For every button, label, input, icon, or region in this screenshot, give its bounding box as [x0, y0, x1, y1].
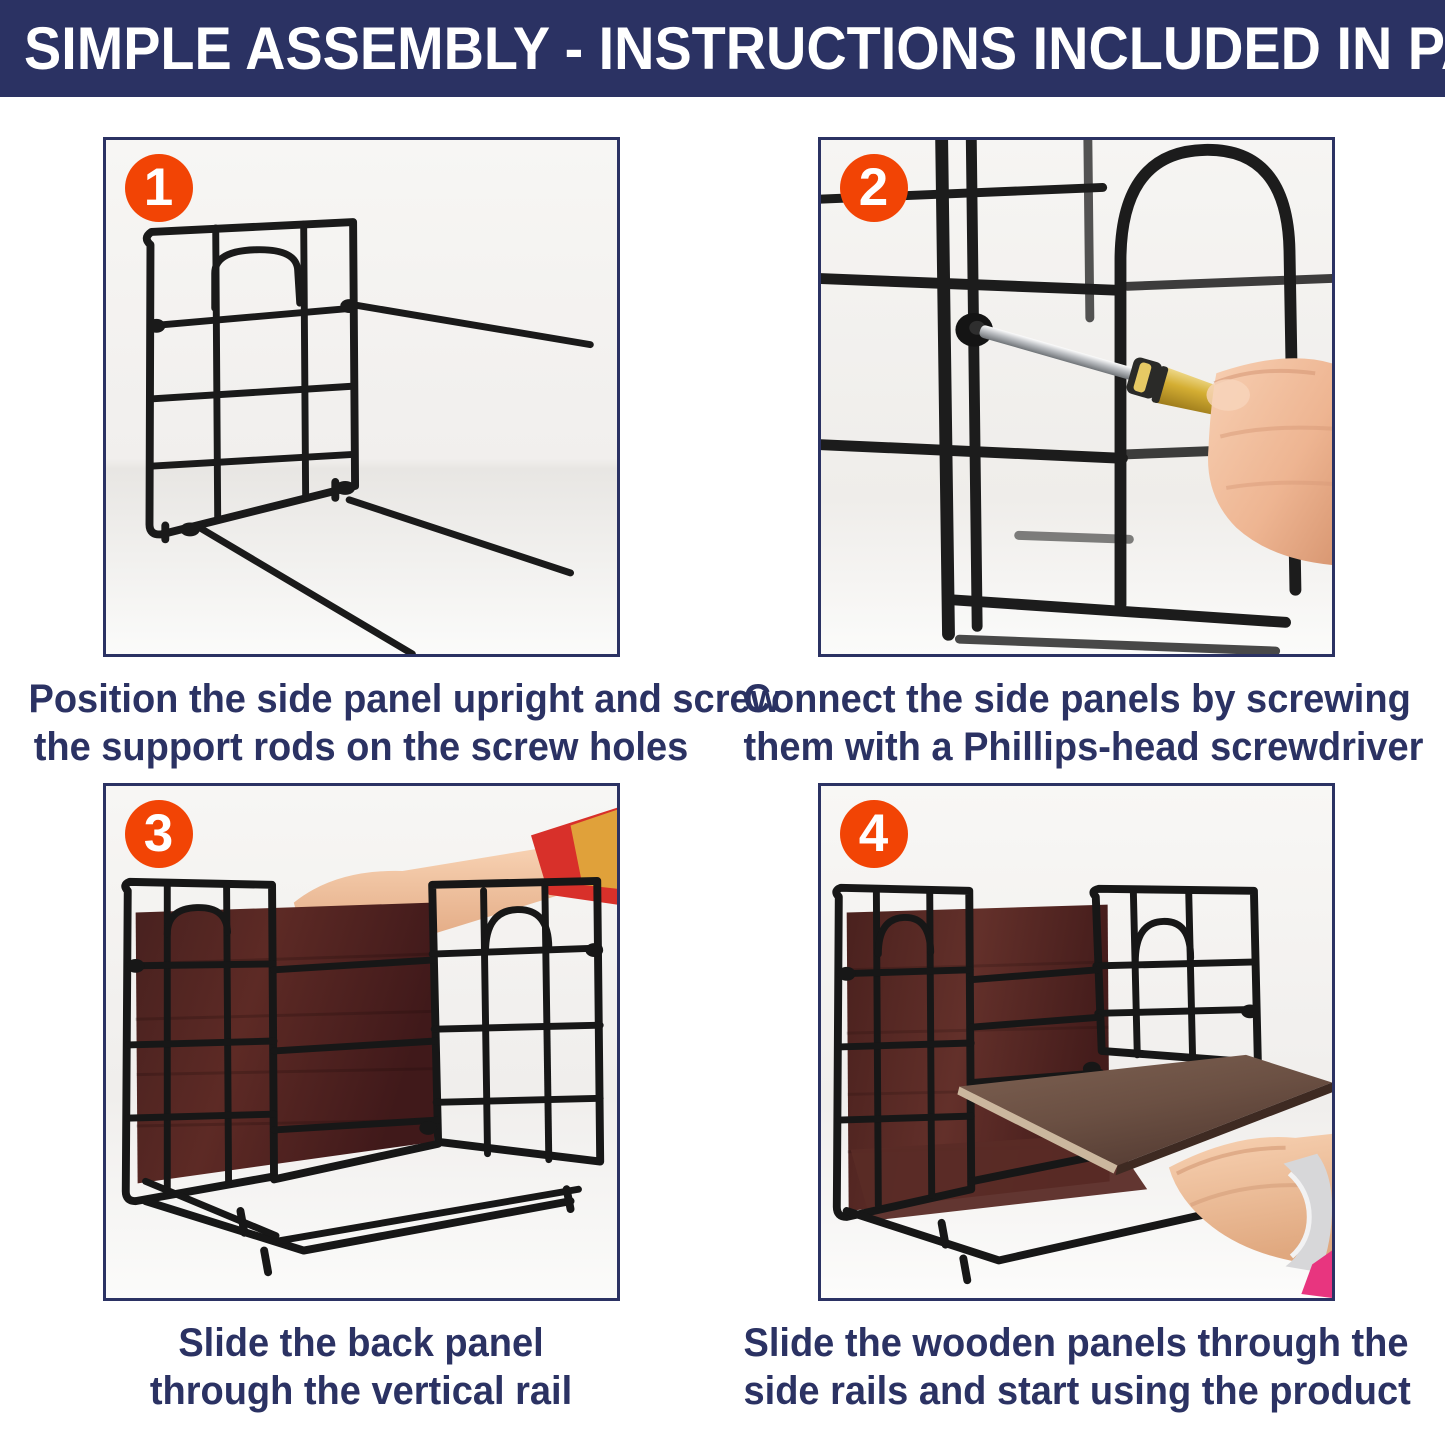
step-4-caption-line-2: side rails and start using the product [744, 1367, 1409, 1415]
step-3: 3 [0, 783, 722, 1433]
step-1-caption: Position the side panel upright and scre… [29, 675, 694, 771]
step-4: 4 [715, 783, 1437, 1433]
step-2-caption-line-2: them with a Phillips-head screwdriver [744, 723, 1409, 771]
step-2-caption-line-1: Connect the side panels by screwing [744, 675, 1409, 723]
step-2-caption: Connect the side panels by screwing them… [744, 675, 1409, 771]
step-3-caption-line-2: through the vertical rail [29, 1367, 694, 1415]
step-3-photo: 3 [103, 783, 620, 1301]
step-4-caption: Slide the wooden panels through the side… [744, 1319, 1409, 1415]
screwdriver-assembly-illustration [821, 140, 1332, 654]
step-1-caption-line-2: the support rods on the screw holes [29, 723, 694, 771]
step-1: 1 [0, 137, 722, 797]
step-2-number-badge: 2 [840, 154, 908, 222]
step-4-number-badge: 4 [840, 800, 908, 868]
step-1-number-badge: 1 [125, 154, 193, 222]
step-4-photo: 4 [818, 783, 1335, 1301]
page-title: SIMPLE ASSEMBLY - INSTRUCTIONS INCLUDED … [24, 19, 1445, 79]
assembly-steps-grid: 1 [0, 97, 1445, 1436]
step-1-caption-line-1: Position the side panel upright and scre… [29, 675, 694, 723]
step-2: 2 [715, 137, 1437, 797]
step-2-photo: 2 [818, 137, 1335, 657]
back-panel-insert-illustration [106, 786, 617, 1298]
step-4-caption-line-1: Slide the wooden panels through the [744, 1319, 1409, 1367]
step-3-caption-line-1: Slide the back panel [29, 1319, 694, 1367]
header-banner: SIMPLE ASSEMBLY - INSTRUCTIONS INCLUDED … [0, 0, 1445, 97]
step-3-number-badge: 3 [125, 800, 193, 868]
shelf-insert-illustration [821, 786, 1332, 1298]
wire-side-panel-illustration [106, 140, 617, 654]
step-1-photo: 1 [103, 137, 620, 657]
step-3-caption: Slide the back panel through the vertica… [29, 1319, 694, 1415]
